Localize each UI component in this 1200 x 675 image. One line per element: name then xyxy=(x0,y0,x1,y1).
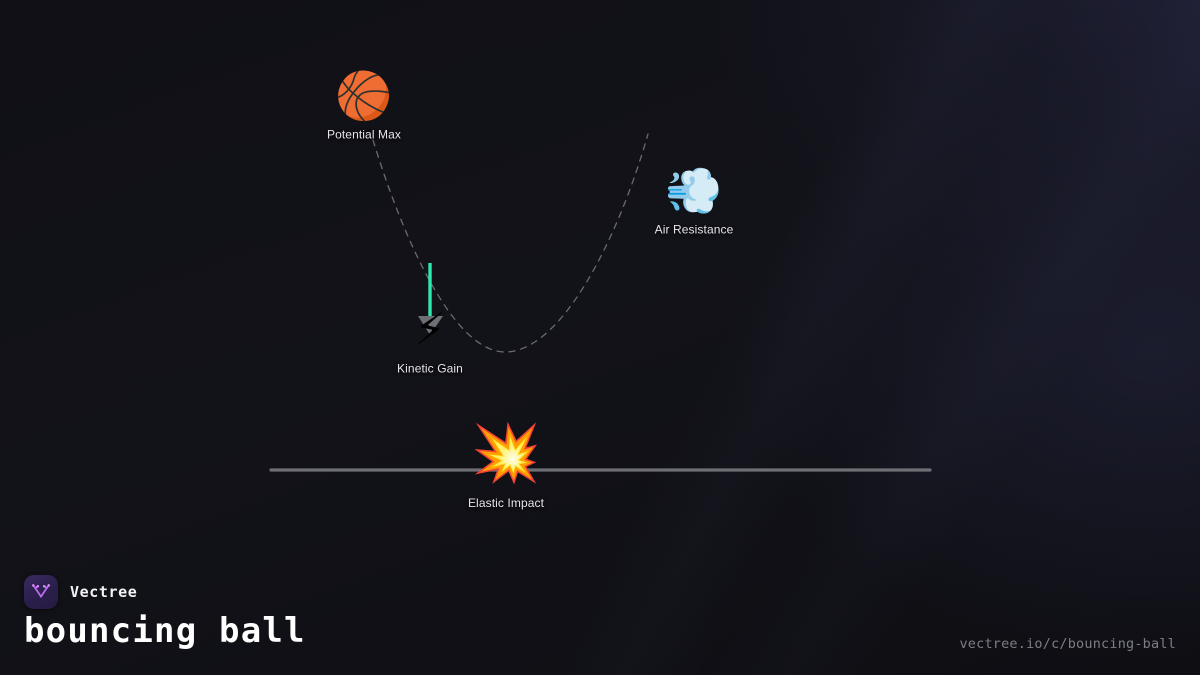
high-voltage-icon: ⚡ xyxy=(415,309,446,353)
page-title: bouncing ball xyxy=(24,611,306,651)
node-potential-max[interactable]: 🏀 Potential Max xyxy=(327,73,401,142)
node-elastic-impact[interactable]: 💥 Elastic Impact xyxy=(468,426,544,510)
node-kinetic-gain[interactable]: ⚡ Kinetic Gain xyxy=(397,309,463,376)
node-label-potential-max: Potential Max xyxy=(327,128,401,142)
brand-name: Vectree xyxy=(70,583,137,601)
canvas-stage: 🏀 Potential Max 💨 Air Resistance ⚡ Kinet… xyxy=(0,0,1200,675)
footer-url: vectree.io/c/bouncing-ball xyxy=(959,636,1176,652)
basketball-icon: 🏀 xyxy=(335,73,392,119)
node-label-elastic-impact: Elastic Impact xyxy=(468,496,544,510)
node-label-air-resistance: Air Resistance xyxy=(655,223,734,237)
node-label-kinetic-gain: Kinetic Gain xyxy=(397,362,463,376)
brand-row[interactable]: Vectree xyxy=(24,575,137,609)
collision-icon: 💥 xyxy=(471,426,541,482)
node-air-resistance[interactable]: 💨 Air Resistance xyxy=(655,168,734,237)
footer-bar: Vectree bouncing ball vectree.io/c/bounc… xyxy=(0,563,1200,675)
wind-dash-icon: 💨 xyxy=(665,168,722,214)
vectree-logo-icon xyxy=(24,575,58,609)
